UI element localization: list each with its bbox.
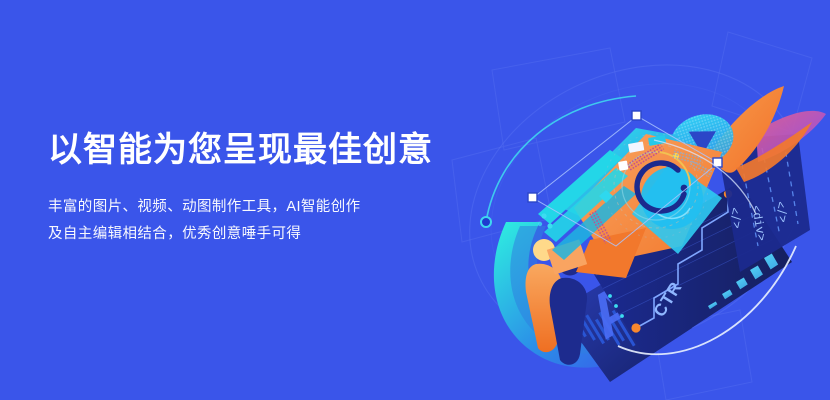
ui-chip-small [618, 160, 628, 170]
copy-block: 以智能为您呈现最佳创意 丰富的图片、视频、动图制作工具，AI智能创作 及自主编辑… [48, 128, 468, 248]
subtitle-line-2: 及自主编辑相结合，优秀创意唾手可得 [48, 221, 468, 248]
illustration: AI [440, 10, 830, 400]
hero-banner: AI [0, 0, 830, 400]
ring-arc-handle [481, 217, 491, 227]
subtitle-line-1: 丰富的图片、视频、动图制作工具，AI智能创作 [48, 194, 468, 221]
chart-point-start [631, 323, 640, 332]
page-title: 以智能为您呈现最佳创意 [48, 128, 468, 172]
